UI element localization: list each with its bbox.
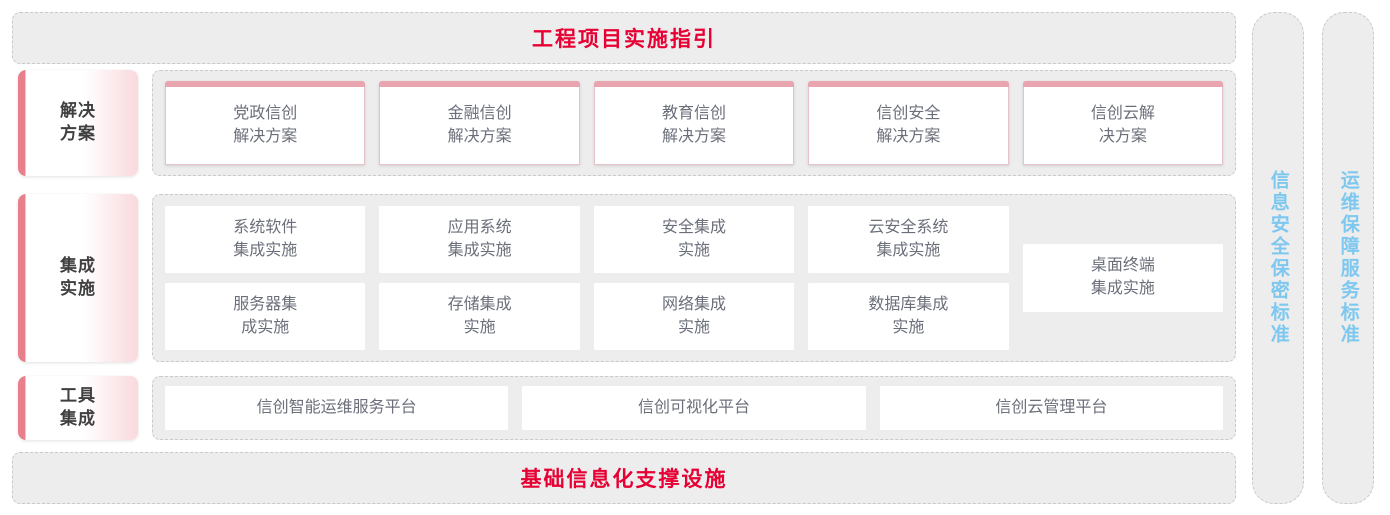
- integration-column: 安全集成实施 网络集成实施: [594, 206, 794, 350]
- integration-column: 云安全系统集成实施 数据库集成实施: [808, 206, 1008, 350]
- standards-panel-operations: 运维保障服务标准: [1322, 12, 1374, 504]
- integration-card[interactable]: 服务器集成实施: [165, 283, 365, 350]
- integration-card-label: 安全集成实施: [662, 217, 726, 262]
- category-label-integration-text: 集成实施: [60, 255, 96, 301]
- tool-card[interactable]: 信创智能运维服务平台: [165, 386, 508, 430]
- integration-card-desktop-terminal[interactable]: 桌面终端集成实施: [1023, 244, 1223, 312]
- integration-card[interactable]: 网络集成实施: [594, 283, 794, 350]
- footer-banner: 基础信息化支撑设施: [12, 452, 1236, 504]
- category-label-integration: 集成实施: [18, 194, 138, 362]
- category-label-tools: 工具集成: [18, 376, 138, 440]
- integration-card[interactable]: 存储集成实施: [379, 283, 579, 350]
- solution-card-label: 信创云解决方案: [1091, 103, 1155, 148]
- tool-card-label: 信创可视化平台: [638, 397, 750, 420]
- integration-column: 应用系统集成实施 存储集成实施: [379, 206, 579, 350]
- integration-card[interactable]: 数据库集成实施: [808, 283, 1008, 350]
- solution-card[interactable]: 金融信创解决方案: [379, 81, 579, 165]
- integration-card-label: 应用系统集成实施: [448, 217, 512, 262]
- solution-card-label: 金融信创解决方案: [448, 103, 512, 148]
- solution-card-label: 教育信创解决方案: [662, 103, 726, 148]
- integration-card[interactable]: 系统软件集成实施: [165, 206, 365, 273]
- tools-row: 信创智能运维服务平台 信创可视化平台 信创云管理平台: [152, 376, 1236, 440]
- solution-card[interactable]: 教育信创解决方案: [594, 81, 794, 165]
- integration-column: 系统软件集成实施 服务器集成实施: [165, 206, 365, 350]
- solution-card[interactable]: 党政信创解决方案: [165, 81, 365, 165]
- standards-panel-security: 信息安全保密标准: [1252, 12, 1304, 504]
- integration-row: 系统软件集成实施 服务器集成实施 应用系统集成实施 存储集成实施 安全集成实施 …: [152, 194, 1236, 362]
- solution-card-label: 党政信创解决方案: [233, 103, 297, 148]
- tool-card[interactable]: 信创可视化平台: [522, 386, 865, 430]
- category-label-solutions: 解决方案: [18, 70, 138, 176]
- integration-column-tall: 桌面终端集成实施: [1023, 206, 1223, 350]
- standards-panel-security-label: 信息安全保密标准: [1264, 170, 1292, 346]
- tool-card-label: 信创云管理平台: [995, 397, 1107, 420]
- integration-card[interactable]: 安全集成实施: [594, 206, 794, 273]
- solution-card-label: 信创安全解决方案: [876, 103, 940, 148]
- category-label-tools-text: 工具集成: [60, 385, 96, 431]
- integration-card-label: 数据库集成实施: [868, 294, 948, 339]
- solution-card[interactable]: 信创云解决方案: [1023, 81, 1223, 165]
- tool-card[interactable]: 信创云管理平台: [880, 386, 1223, 430]
- standards-panel-operations-label: 运维保障服务标准: [1334, 170, 1362, 346]
- category-label-solutions-text: 解决方案: [60, 100, 96, 146]
- integration-card[interactable]: 云安全系统集成实施: [808, 206, 1008, 273]
- footer-title: 基础信息化支撑设施: [521, 463, 728, 493]
- solutions-row: 党政信创解决方案 金融信创解决方案 教育信创解决方案 信创安全解决方案 信创云解…: [152, 70, 1236, 176]
- integration-card-label: 网络集成实施: [662, 294, 726, 339]
- integration-card-label: 云安全系统集成实施: [868, 217, 948, 262]
- integration-card-label: 桌面终端集成实施: [1091, 255, 1155, 300]
- diagram-root: 工程项目实施指引 解决方案 集成实施 工具集成 党政信创解决方案 金融信创解决方…: [0, 0, 1390, 515]
- solution-card[interactable]: 信创安全解决方案: [808, 81, 1008, 165]
- integration-card[interactable]: 应用系统集成实施: [379, 206, 579, 273]
- integration-card-label: 系统软件集成实施: [233, 217, 297, 262]
- integration-card-label: 存储集成实施: [448, 294, 512, 339]
- tool-card-label: 信创智能运维服务平台: [257, 397, 417, 420]
- integration-card-label: 服务器集成实施: [233, 294, 297, 339]
- page-title: 工程项目实施指引: [532, 23, 716, 53]
- header-banner: 工程项目实施指引: [12, 12, 1236, 64]
